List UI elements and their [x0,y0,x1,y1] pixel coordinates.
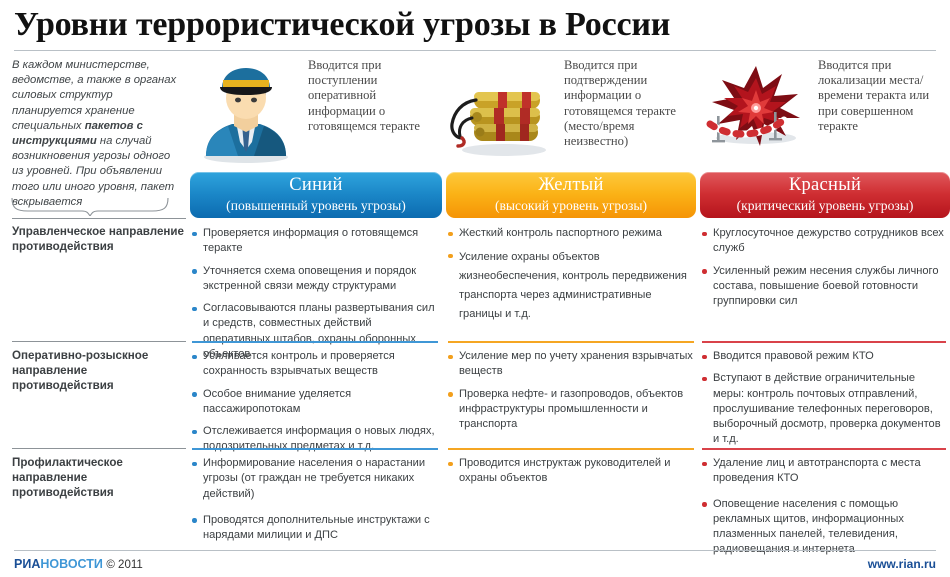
list-item: Вступают в действие ограничительные меры… [702,371,946,447]
list-item: Усиливается контроль и проверяется сохра… [192,349,438,380]
website-url[interactable]: www.rian.ru [868,557,936,571]
cell-row2-blue: Усиливается контроль и проверяется сохра… [192,349,438,462]
level-name-red: Красный [700,172,950,197]
row-label-1: Управленческое направление противодейств… [12,224,184,254]
list-item: Проверка нефте- и газопроводов, объектов… [448,387,694,433]
row-separator-3-yellow [448,448,694,450]
list-item: Усиление охраны объектов жизнеобеспечени… [448,248,694,324]
row-separator-2-red [702,341,946,343]
list-item: Усиление мер по учету хранения взрывчаты… [448,349,694,380]
row-label-2: Оперативно-розыскное направление противо… [12,348,184,393]
dynamite-icon [446,58,558,166]
level-name-yellow: Желтый [446,172,696,197]
list-item: Круглосуточное дежурство сотрудников все… [702,226,946,257]
level-pill-yellow[interactable]: Желтый (высокий уровень угрозы) [446,172,696,218]
column-caption-yellow: Вводится при подтверждении информации о … [564,58,696,149]
row-separator-2-blue [192,341,438,343]
cell-row1-red: Круглосуточное дежурство сотрудников все… [702,226,946,316]
list-item: Отслеживается информация о новых людях, … [192,424,438,455]
list-item: Удаление лиц и автотранспорта с места пр… [702,456,946,487]
column-head-red: Вводится при локализации места/времени т… [700,58,950,170]
column-head-yellow: Вводится при подтверждении информации о … [446,58,696,170]
bullet-list: Жесткий контроль паспортного режима Усил… [448,226,694,324]
bullet-list: Усиливается контроль и проверяется сохра… [192,349,438,455]
logo-novosti-text: НОВОСТИ [40,557,103,571]
bullet-list: Вводится правовой режим КТО Вступают в д… [702,349,946,448]
bullet-list: Круглосуточное дежурство сотрудников все… [702,226,946,309]
level-sub-blue: (повышенный уровень угрозы) [190,197,442,214]
row-label-3: Профилактическое направление противодейс… [12,455,184,500]
list-item: Информирование населения о нарастании уг… [192,456,438,502]
footer-divider [14,550,936,551]
police-officer-icon [190,58,302,166]
list-item: Оповещение населения с помощью рекламных… [702,497,946,558]
intro-note: В каждом министерстве, ведомстве, а такж… [12,58,178,210]
cell-row2-red: Вводится правовой режим КТО Вступают в д… [702,349,946,455]
bullet-list: Проводится инструктаж руководителей и ох… [448,456,694,487]
copyright-text: © 2011 [106,559,142,571]
list-item: Проверяется информация о готовящемся тер… [192,226,438,257]
cell-row3-red: Удаление лиц и автотранспорта с места пр… [702,456,946,565]
level-name-blue: Синий [190,172,442,197]
explosion-barrier-icon [700,58,812,166]
list-item: Жесткий контроль паспортного режима [448,226,694,241]
infographic-page: Уровни террористической угрозы в России … [0,0,950,577]
level-pill-red[interactable]: Красный (критический уровень угрозы) [700,172,950,218]
bullet-list: Информирование населения о нарастании уг… [192,456,438,543]
row-separator-2-yellow [448,341,694,343]
cell-row2-yellow: Усиление мер по учету хранения взрывчаты… [448,349,694,439]
cell-row3-blue: Информирование населения о нарастании уг… [192,456,438,550]
bullet-list: Удаление лиц и автотранспорта с места пр… [702,456,946,558]
column-head-blue: Вводится при поступлении оперативной инф… [190,58,442,170]
level-pill-blue[interactable]: Синий (повышенный уровень угрозы) [190,172,442,218]
list-item: Уточняется схема оповещения и порядок эк… [192,264,438,295]
list-item: Усиленный режим несения службы личного с… [702,264,946,310]
list-item: Проводится инструктаж руководителей и ох… [448,456,694,487]
list-item: Вводится правовой режим КТО [702,349,946,364]
intro-bold-packets: пакетов [85,120,134,132]
ria-novosti-logo[interactable]: РИАНОВОСТИ © 2011 [14,557,143,571]
row-separator-3-blue [192,448,438,450]
cell-row1-blue: Проверяется информация о готовящемся тер… [192,226,438,369]
level-sub-yellow: (высокий уровень угрозы) [446,197,696,214]
row-separator-2-label [12,341,186,342]
list-item: Особое внимание уделяется пассажиропоток… [192,387,438,418]
column-caption-blue: Вводится при поступлении оперативной инф… [308,58,440,134]
bullet-list: Усиление мер по учету хранения взрывчаты… [448,349,694,432]
list-item: Проводятся дополнительные инструктажи с … [192,513,438,544]
row-separator-3-red [702,448,946,450]
title-divider [14,50,936,51]
level-sub-red: (критический уровень угрозы) [700,197,950,214]
row-separator-1-label [12,218,186,219]
cell-row1-yellow: Жесткий контроль паспортного режима Усил… [448,226,694,331]
cell-row3-yellow: Проводится инструктаж руководителей и ох… [448,456,694,494]
page-title: Уровни террористической угрозы в России [14,4,934,46]
row-separator-3-label [12,448,186,449]
brace-icon [10,198,170,216]
column-caption-red: Вводится при локализации места/времени т… [818,58,950,134]
logo-ria-text: РИА [14,557,40,571]
